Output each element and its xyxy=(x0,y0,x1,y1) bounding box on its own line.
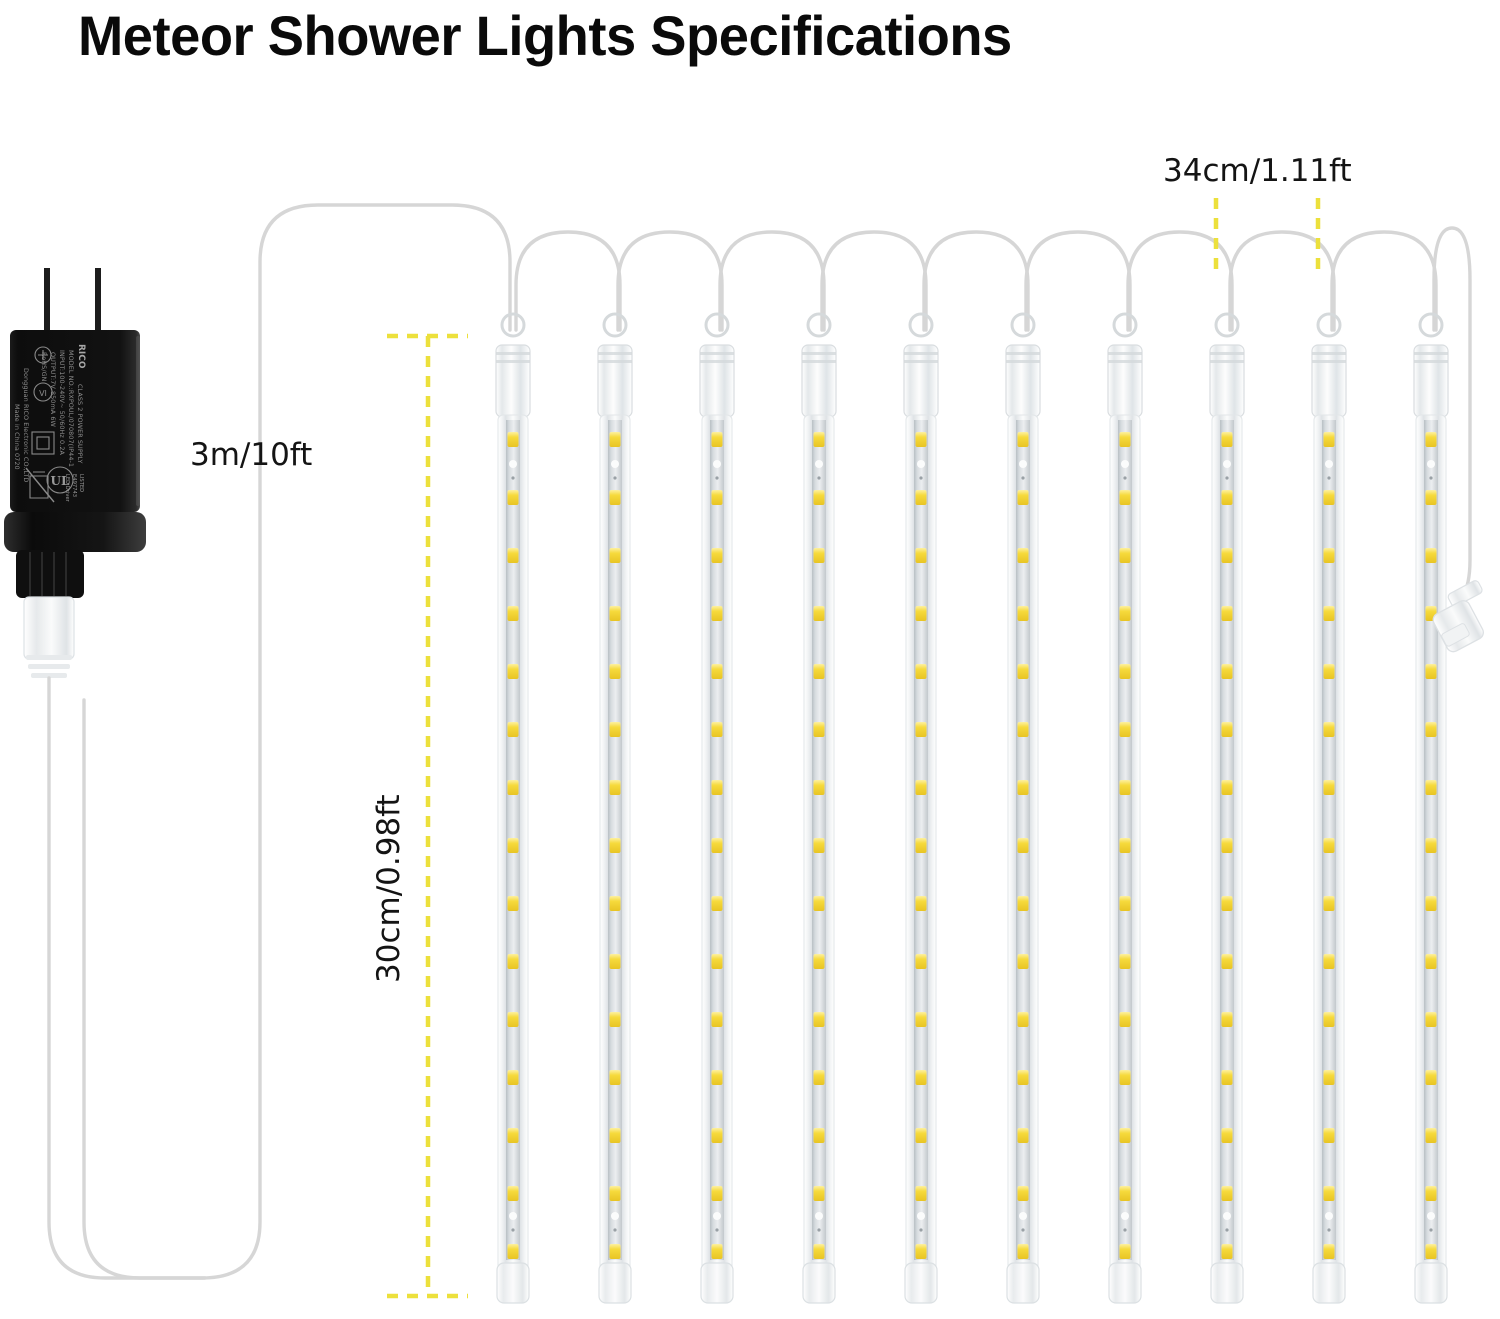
adapter-barrel xyxy=(16,550,84,598)
adapter-prong xyxy=(95,268,101,330)
adapter-prong xyxy=(44,268,50,330)
power-adapter-icon: VI UL xyxy=(4,268,205,1278)
tube-connector-cap xyxy=(1312,345,1346,417)
led-tube xyxy=(496,314,530,1303)
adapter-ul-listed-text: LISTED xyxy=(78,474,84,492)
tube-connector-cap xyxy=(598,345,632,417)
tube-connector-cap xyxy=(496,345,530,417)
tube-hanger-loop xyxy=(502,314,524,336)
led-chips xyxy=(1324,432,1335,1259)
led-chips xyxy=(814,432,825,1259)
adapter-rohs-text: RoHS/GN xyxy=(40,352,48,382)
dimension-label-lead-cord: 3m/10ft xyxy=(190,437,312,473)
adapter-ul-number-text: E497743 xyxy=(71,474,77,497)
tube-connector-cap xyxy=(904,345,938,417)
led-chips xyxy=(610,432,621,1259)
led-tube xyxy=(1414,314,1448,1303)
led-chips xyxy=(508,432,519,1259)
tube-end-cap xyxy=(1109,1263,1141,1303)
adapter-origin-text: Made in China 0720 xyxy=(13,404,21,470)
adapter-manufacturer-text: Dongguan RICO Electronic CO.,LTD xyxy=(22,368,30,482)
led-chips xyxy=(1018,432,1029,1259)
specification-image: Meteor Shower Lights Specifications xyxy=(0,0,1500,1319)
led-tube xyxy=(904,314,938,1303)
led-tube xyxy=(1210,314,1244,1303)
svg-text:VI: VI xyxy=(39,389,47,398)
adapter-output-text: OUTPUT:7V 850mA 6W xyxy=(49,352,57,427)
tube-hanger-loop xyxy=(808,314,830,336)
tube-end-cap xyxy=(1415,1263,1447,1303)
tube-hanger-loop xyxy=(1216,314,1238,336)
adapter-collar xyxy=(4,512,146,552)
led-tube xyxy=(1108,314,1142,1303)
tube-end-cap xyxy=(1313,1263,1345,1303)
tube-hanger-loop xyxy=(1114,314,1136,336)
tube-connector-cap xyxy=(1006,345,1040,417)
led-tube xyxy=(700,314,734,1303)
tube-connector-cap xyxy=(1210,345,1244,417)
led-chips xyxy=(916,432,927,1259)
led-tube-group xyxy=(496,314,1448,1303)
led-chips xyxy=(1426,432,1437,1259)
wire-harness xyxy=(84,205,1470,1278)
adapter-class-text: CLASS 2 POWER SUPPLY xyxy=(76,384,84,464)
tube-hanger-loop xyxy=(1420,314,1442,336)
tube-connector-cap xyxy=(1108,345,1142,417)
tube-end-cap xyxy=(905,1263,937,1303)
adapter-ul-driver-text: LED Driver xyxy=(64,474,70,502)
led-tube xyxy=(598,314,632,1303)
led-chips xyxy=(1222,432,1233,1259)
led-chips xyxy=(712,432,723,1259)
tube-hanger-loop xyxy=(910,314,932,336)
adapter-coupling xyxy=(24,597,74,659)
tube-end-cap xyxy=(599,1263,631,1303)
tube-hanger-loop xyxy=(706,314,728,336)
product-diagram: VI UL xyxy=(0,0,1500,1319)
tube-end-cap xyxy=(1211,1263,1243,1303)
tube-end-cap xyxy=(803,1263,835,1303)
led-tube xyxy=(1006,314,1040,1303)
tube-connector-cap xyxy=(802,345,836,417)
tube-connector-cap xyxy=(700,345,734,417)
adapter-input-text: INPUT:100-240V~ 50/60Hz 0.2A xyxy=(58,350,66,455)
led-tube xyxy=(802,314,836,1303)
led-tube xyxy=(1312,314,1346,1303)
tube-hanger-loop xyxy=(1318,314,1340,336)
tube-end-cap xyxy=(701,1263,733,1303)
led-chips xyxy=(1120,432,1131,1259)
tube-end-cap xyxy=(1007,1263,1039,1303)
tube-hanger-loop xyxy=(604,314,626,336)
adapter-brand-text: RICO xyxy=(76,344,86,369)
dimension-label-tube-length: 30cm/0.98ft xyxy=(371,794,407,983)
adapter-model-text: MODEL NO.:RXPOUL/070807(IP44-1 xyxy=(67,350,75,467)
tube-hanger-loop xyxy=(1012,314,1034,336)
dimension-label-spacing: 34cm/1.11ft xyxy=(1163,153,1352,189)
tube-connector-cap xyxy=(1414,345,1448,417)
tube-end-cap xyxy=(497,1263,529,1303)
